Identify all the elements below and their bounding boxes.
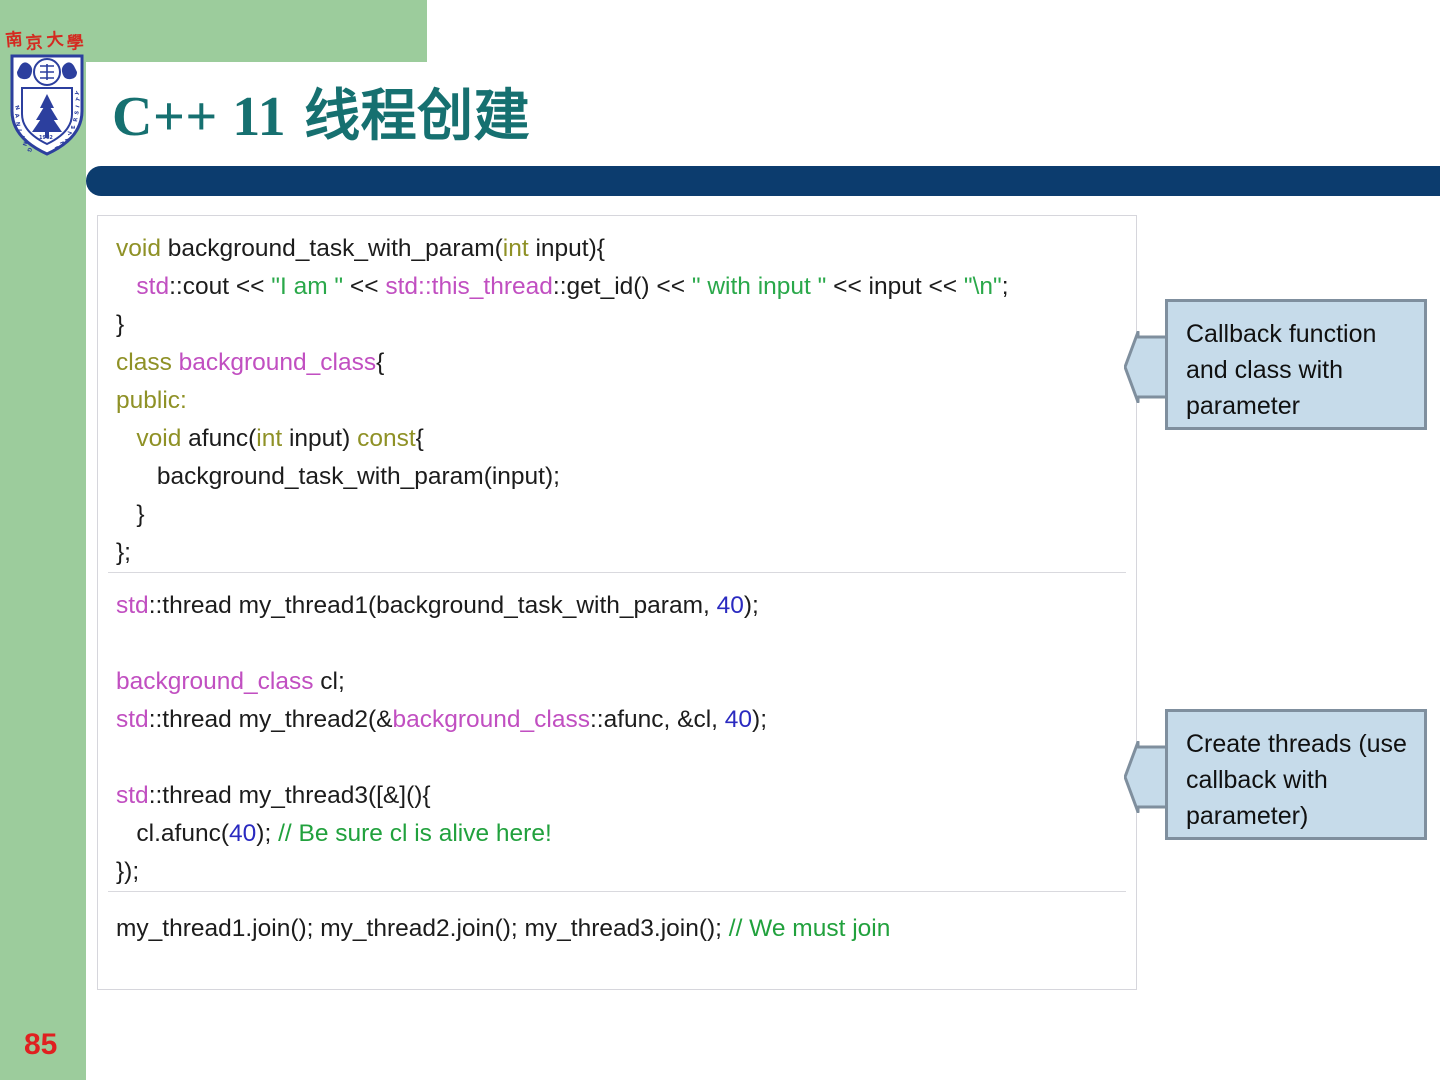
code-token: ::afunc, &cl, xyxy=(590,706,725,733)
code-line: void background_task_with_param(int inpu… xyxy=(116,230,1136,268)
code-line: my_thread1.join(); my_thread2.join(); my… xyxy=(116,910,1136,948)
code-token: { xyxy=(376,349,384,376)
code-token: ::cout << xyxy=(169,273,271,300)
code-token: ::thread my_thread1(background_task_with… xyxy=(149,592,717,619)
code-section-thread-creation: std::thread my_thread1(background_task_w… xyxy=(98,573,1136,891)
callout-arrow-left-icon-1 xyxy=(1124,331,1170,403)
code-token: ::thread my_thread3([&](){ xyxy=(149,782,431,809)
code-section-callback-definition: void background_task_with_param(int inpu… xyxy=(98,216,1136,572)
callout-create-threads: Create threads (use callback with parame… xyxy=(1165,709,1427,840)
code-line: }; xyxy=(116,534,1136,572)
code-token: background_class xyxy=(179,349,376,376)
title-underline-bar xyxy=(86,166,1440,196)
code-token: // Be sure cl is alive here! xyxy=(278,820,552,847)
svg-text:J: J xyxy=(16,128,22,131)
page-title-latin: C++ 11 xyxy=(112,86,286,148)
code-token xyxy=(172,349,179,376)
code-token: cl; xyxy=(313,668,344,695)
code-token: 40 xyxy=(229,820,256,847)
code-line: } xyxy=(116,306,1136,344)
svg-text:學: 學 xyxy=(66,33,84,54)
code-token: my_thread1.join(); my_thread2.join(); my… xyxy=(116,915,729,942)
code-token: afunc( xyxy=(181,425,256,452)
page-title: C++ 11线程创建 xyxy=(112,84,530,149)
code-line: void afunc(int input) const{ xyxy=(116,420,1136,458)
code-token: std xyxy=(116,782,149,809)
code-token: input) xyxy=(282,425,357,452)
code-card: void background_task_with_param(int inpu… xyxy=(97,215,1137,990)
code-token: ); xyxy=(752,706,767,733)
code-token: ; xyxy=(1002,273,1009,300)
code-token: " with input " xyxy=(692,273,827,300)
code-token: 40 xyxy=(717,592,744,619)
code-token: void xyxy=(116,235,161,262)
page-title-cjk: 线程创建 xyxy=(304,84,530,149)
callout-arrow-left-icon-2 xyxy=(1124,741,1170,813)
code-line: }); xyxy=(116,853,1136,891)
code-line: } xyxy=(116,496,1136,534)
code-token: ); xyxy=(256,820,278,847)
code-token: ); xyxy=(744,592,759,619)
code-token: background_class xyxy=(392,706,589,733)
code-token: class xyxy=(116,349,172,376)
svg-text:京: 京 xyxy=(25,32,43,54)
svg-text:南: 南 xyxy=(5,29,24,51)
code-token: input){ xyxy=(529,235,605,262)
code-line: std::thread my_thread3([&](){ xyxy=(116,777,1136,815)
code-line: public: xyxy=(116,382,1136,420)
code-token xyxy=(116,273,136,300)
code-line: cl.afunc(40); // Be sure cl is alive her… xyxy=(116,815,1136,853)
code-token: { xyxy=(416,425,424,452)
svg-text:E: E xyxy=(71,125,77,129)
code-token: } xyxy=(116,501,145,528)
code-line: class background_class{ xyxy=(116,344,1136,382)
code-token: }; xyxy=(116,539,131,566)
code-token: << xyxy=(343,273,385,300)
code-token xyxy=(116,744,123,771)
code-token: const xyxy=(357,425,416,452)
code-token: << input << xyxy=(826,273,964,300)
code-line: std::thread my_thread1(background_task_w… xyxy=(116,587,1136,625)
code-line: background_class cl; xyxy=(116,663,1136,701)
code-line: background_task_with_param(input); xyxy=(116,458,1136,496)
code-token: background_task_with_param( xyxy=(161,235,503,262)
callout-callback: Callback function and class with paramet… xyxy=(1165,299,1427,430)
code-line: std::cout << "I am " << std::this_thread… xyxy=(116,268,1136,306)
code-token: background_class xyxy=(116,668,313,695)
svg-text:大: 大 xyxy=(46,29,65,51)
code-token: public xyxy=(116,387,180,414)
code-token: // We must join xyxy=(729,915,891,942)
code-token: "\n" xyxy=(964,273,1002,300)
left-green-band xyxy=(0,0,86,1080)
svg-text:1902: 1902 xyxy=(39,135,53,141)
nanjing-university-logo: 南 京 大 學 N A N J I N G U N I V E R S I T … xyxy=(2,6,92,161)
svg-text:N: N xyxy=(21,140,28,147)
code-token: std xyxy=(116,592,149,619)
code-token: cl.afunc( xyxy=(116,820,229,847)
code-token: void xyxy=(136,425,181,452)
top-green-band xyxy=(86,0,427,62)
code-token: "I am " xyxy=(271,273,343,300)
code-token: : xyxy=(180,387,187,414)
code-token: }); xyxy=(116,858,139,885)
code-token: ::get_id() << xyxy=(553,273,692,300)
code-line xyxy=(116,625,1136,663)
code-line xyxy=(116,739,1136,777)
code-section-thread-join: my_thread1.join(); my_thread2.join(); my… xyxy=(98,892,1136,948)
svg-text:G: G xyxy=(25,146,33,153)
page-number: 85 xyxy=(24,1028,57,1062)
code-token xyxy=(116,425,136,452)
code-token: int xyxy=(256,425,282,452)
code-token: ::thread my_thread2(& xyxy=(149,706,393,733)
code-token: } xyxy=(116,311,124,338)
code-token xyxy=(116,630,123,657)
code-token: int xyxy=(503,235,529,262)
code-token: std xyxy=(116,706,149,733)
code-token: std::this_thread xyxy=(385,273,553,300)
code-token: std xyxy=(136,273,169,300)
code-line: std::thread my_thread2(&background_class… xyxy=(116,701,1136,739)
code-token: background_task_with_param(input); xyxy=(116,463,560,490)
code-token: 40 xyxy=(725,706,752,733)
